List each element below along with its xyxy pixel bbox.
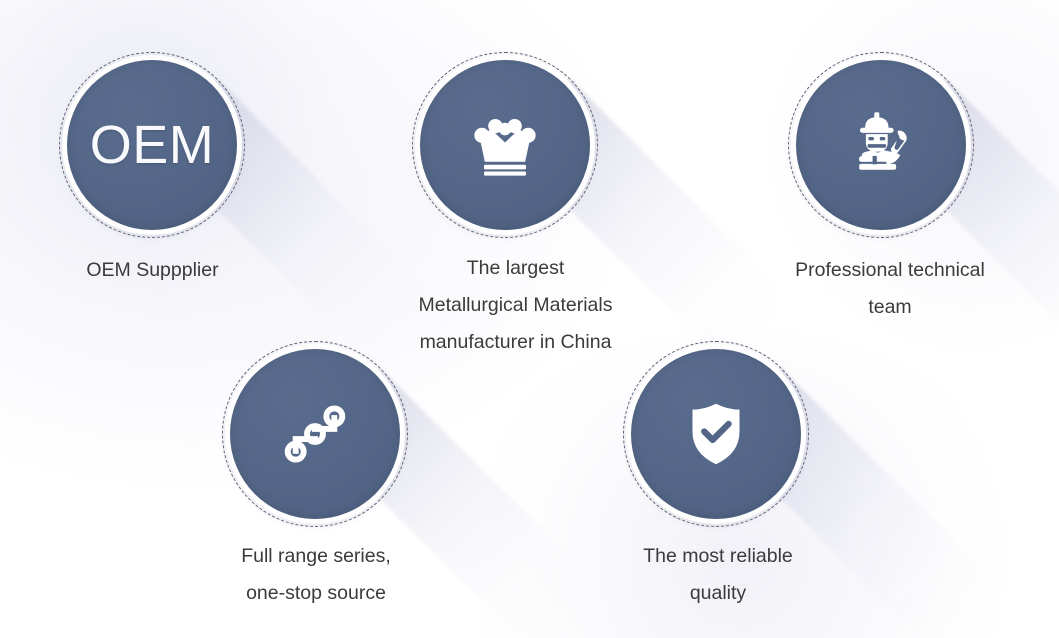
badge-disc bbox=[631, 349, 801, 519]
connected-nodes-icon bbox=[273, 392, 357, 476]
caption-largest: The largest Metallurgical Materials manu… bbox=[372, 250, 659, 361]
caption-oem: OEM Suppplier bbox=[10, 252, 295, 289]
caption-quality: The most reliable quality bbox=[575, 538, 861, 612]
badge-disc bbox=[796, 60, 966, 230]
crown-icon bbox=[463, 103, 547, 187]
oem-text-icon: OEM bbox=[90, 118, 215, 172]
badge-range[interactable] bbox=[222, 341, 408, 527]
caption-range: Full range series, one-stop source bbox=[172, 538, 460, 612]
shield-check-icon bbox=[674, 392, 758, 476]
badge-largest[interactable] bbox=[412, 52, 598, 238]
caption-team: Professional technical team bbox=[745, 252, 1035, 326]
worker-with-wrench-icon bbox=[839, 103, 923, 187]
badge-disc: OEM bbox=[67, 60, 237, 230]
badge-disc bbox=[420, 60, 590, 230]
infographic-canvas: OEM OEM Suppplier bbox=[0, 0, 1059, 638]
badge-disc bbox=[230, 349, 400, 519]
badge-quality[interactable] bbox=[623, 341, 809, 527]
badge-team[interactable] bbox=[788, 52, 974, 238]
badge-oem[interactable]: OEM bbox=[59, 52, 245, 238]
